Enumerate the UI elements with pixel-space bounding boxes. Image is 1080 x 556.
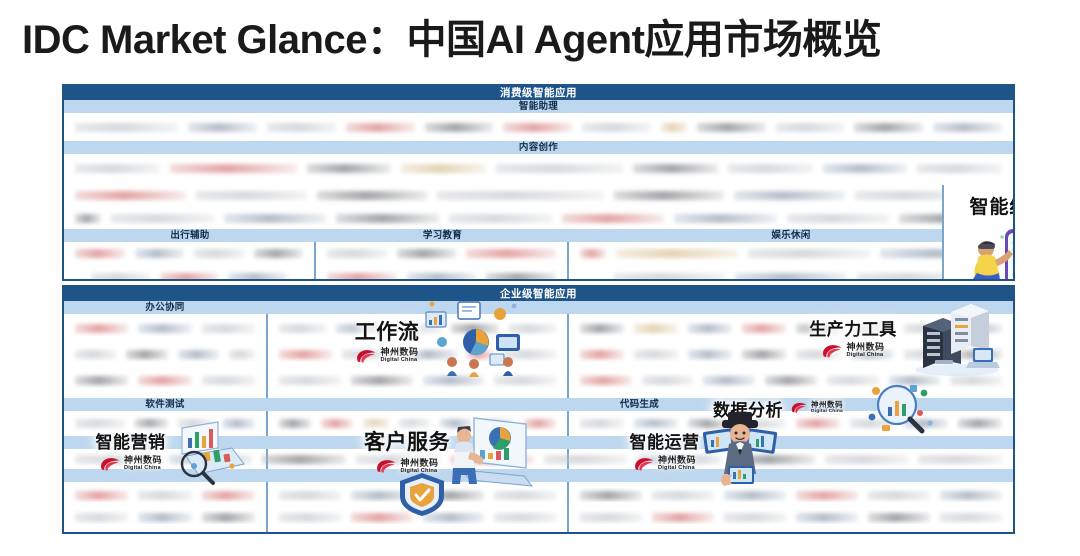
consumer-column-headers: 出行辅助 学习教育 娱乐休闲 — [64, 229, 1013, 242]
market-glance-poster: IDC Market Glance：中国AI Agent应用市场概览 消费级智能… — [0, 0, 1080, 556]
consumer-column-travel: 出行辅助 — [64, 229, 316, 242]
vendor-logo-strip — [569, 510, 1013, 524]
vendor-logo-strip — [64, 411, 266, 436]
feature-label-smart-terminal: 智能终端 — [969, 192, 1015, 219]
vendor-logo-strip — [64, 532, 266, 534]
consumer-subheader-content: 内容创作 — [64, 141, 1013, 154]
feature-card-smart-terminal: 智能终端 — [942, 185, 1015, 281]
consumer-column-logo-rows — [64, 242, 1013, 281]
vendor-logo-strip — [268, 346, 567, 362]
vendor-logo-strip — [316, 242, 567, 266]
logo-row-assistant — [64, 113, 1013, 141]
vendor-logo-strip — [569, 532, 1013, 534]
vendor-logo-strip — [268, 372, 567, 388]
enterprise-row2-logos — [64, 411, 1013, 436]
logo-row-content-1 — [64, 154, 1013, 182]
smart-terminal-illustration — [952, 215, 1015, 281]
enterprise-marketing-bar — [64, 469, 1013, 482]
vendor-logo-strip — [64, 154, 1013, 182]
vendor-logo-strip — [569, 346, 1013, 362]
consumer-section-panel: 消费级智能应用 智能助理 内容创作 — [62, 84, 1015, 281]
enterprise-label-office: 办公协同 — [64, 301, 266, 314]
enterprise-row4-logos — [64, 482, 1013, 534]
vendor-logo-strip — [64, 346, 266, 362]
vendor-logo-strip — [569, 320, 1013, 336]
vendor-logo-strip — [64, 266, 314, 282]
vendor-logo-strip — [268, 532, 567, 534]
vendor-logo-strip — [64, 242, 314, 266]
enterprise-section-header: 企业级智能应用 — [64, 287, 1013, 301]
enterprise-row1-blank-bar — [266, 301, 1013, 314]
enterprise-row1-headers: 办公协同 — [64, 301, 1013, 314]
enterprise-section-panel: 企业级智能应用 办公协同 — [62, 285, 1015, 534]
vendor-logo-strip — [64, 208, 1013, 229]
page-title: IDC Market Glance：中国AI Agent应用市场概览 — [22, 12, 1067, 68]
vendor-logo-strip — [268, 488, 567, 502]
vendor-logo-strip — [64, 510, 266, 524]
vendor-logo-strip — [569, 411, 1013, 436]
consumer-section-header: 消费级智能应用 — [64, 86, 1013, 100]
vendor-logo-strip — [64, 449, 1013, 469]
vendor-logo-strip — [569, 372, 1013, 388]
enterprise-row2-headers: 软件测试 代码生成 — [64, 398, 1013, 411]
enterprise-label-testing: 软件测试 — [64, 398, 266, 411]
vendor-logo-strip — [268, 510, 567, 524]
vendor-logo-strip — [64, 372, 266, 388]
vendor-logo-strip — [64, 113, 1013, 141]
vendor-logo-strip — [64, 320, 266, 336]
vendor-logo-strip — [569, 488, 1013, 502]
enterprise-data-analysis-bar — [64, 436, 1013, 449]
enterprise-row3-logos — [64, 449, 1013, 469]
vendor-logo-strip — [64, 182, 1013, 208]
vendor-logo-strip — [268, 320, 567, 336]
consumer-subheader-assistant: 智能助理 — [64, 100, 1013, 113]
logo-row-content-2 — [64, 182, 1013, 208]
enterprise-label-codegen: 代码生成 — [266, 398, 1013, 411]
vendor-logo-strip — [268, 411, 567, 436]
vendor-logo-strip — [316, 266, 567, 282]
vendor-logo-strip — [64, 488, 266, 502]
consumer-column-education: 学习教育 — [316, 229, 569, 242]
logo-row-content-3 — [64, 208, 1013, 229]
enterprise-row1-logos — [64, 314, 1013, 398]
